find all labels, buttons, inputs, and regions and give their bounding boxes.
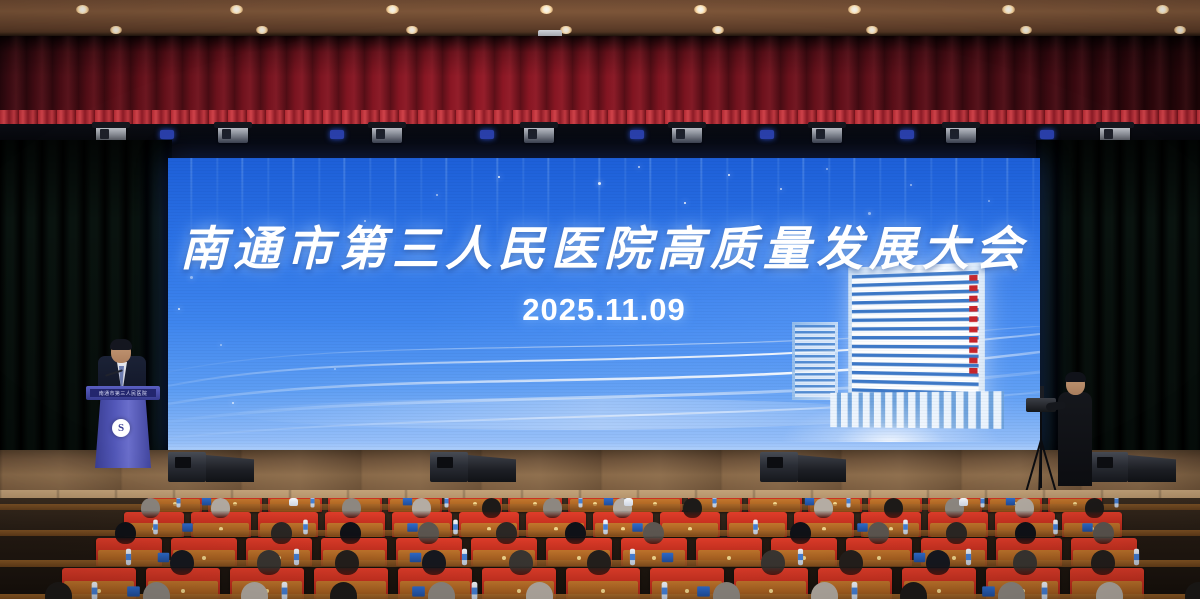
water-bottle xyxy=(966,549,971,565)
led-screen: 南通市第三人民医院高质量发展大会 2025.11.09 xyxy=(168,158,1040,456)
moving-head-light xyxy=(672,126,702,143)
monitor-cabinet xyxy=(1128,455,1176,482)
audience-member-head xyxy=(141,498,160,518)
audience-member-head xyxy=(257,550,281,575)
monitor-cabinet xyxy=(468,455,516,482)
seat-knob xyxy=(517,589,521,593)
conference-booklet xyxy=(410,553,422,562)
ceiling-downlight xyxy=(1174,26,1186,34)
seat-knob xyxy=(181,589,185,593)
audience-member-head xyxy=(482,498,501,518)
water-bottle xyxy=(153,520,158,535)
audience-member-head xyxy=(211,498,230,518)
lighting-truss xyxy=(0,124,1200,144)
water-bottle xyxy=(310,498,314,507)
ceiling xyxy=(0,0,1200,38)
conference-booklet xyxy=(1082,523,1092,532)
water-bottle xyxy=(903,520,908,535)
tea-cup xyxy=(624,498,633,506)
monitor-amp xyxy=(430,452,468,482)
audience-member-head xyxy=(271,522,292,544)
led-screen-date: 2025.11.09 xyxy=(168,292,1040,328)
conference-booklet xyxy=(403,498,412,505)
audience-member-head xyxy=(761,550,785,575)
podium-nameplate: 南通市第三人民医院 xyxy=(90,389,156,397)
water-bottle xyxy=(1042,582,1048,599)
audience-member-head xyxy=(868,522,889,544)
cameraman-hair xyxy=(1065,372,1086,382)
tea-cup xyxy=(289,498,298,506)
water-bottle xyxy=(753,520,758,535)
ceiling-downlight xyxy=(848,5,861,14)
conference-booklet xyxy=(127,586,140,596)
water-bottle xyxy=(444,498,448,507)
water-bottle xyxy=(798,549,803,565)
audience-member-head xyxy=(412,498,431,518)
conference-booklet xyxy=(982,586,995,596)
audience-member-head xyxy=(814,498,833,518)
light-yoke xyxy=(1096,122,1134,128)
audience-member-head xyxy=(1185,582,1200,599)
water-bottle xyxy=(92,582,98,599)
water-bottle xyxy=(852,582,858,599)
audience-seating-area xyxy=(0,498,1200,599)
blue-wash-light xyxy=(160,130,174,139)
light-yoke xyxy=(214,122,252,128)
audience-member-head xyxy=(565,522,586,544)
audience-member-head xyxy=(1013,550,1037,575)
water-bottle xyxy=(1053,520,1058,535)
stage-monitor-speaker xyxy=(430,452,520,482)
conference-booklet xyxy=(697,586,710,596)
audience-member-head xyxy=(683,498,702,518)
water-bottle xyxy=(462,549,467,565)
blue-wash-light xyxy=(900,130,914,139)
blue-wash-light xyxy=(760,130,774,139)
light-yoke xyxy=(808,122,846,128)
ceiling-downlight xyxy=(1020,26,1032,34)
ceiling-downlight xyxy=(76,5,89,14)
conference-booklet xyxy=(158,553,170,562)
conference-booklet xyxy=(914,553,926,562)
water-bottle xyxy=(846,498,850,507)
seat-knob xyxy=(97,589,101,593)
ceiling-downlight xyxy=(386,5,399,14)
stage-monitor-speaker xyxy=(168,452,258,482)
monitor-cabinet xyxy=(798,455,846,482)
seat-knob xyxy=(769,589,773,593)
water-bottle xyxy=(980,498,984,507)
audience-member-head xyxy=(1085,498,1104,518)
light-yoke xyxy=(668,122,706,128)
tea-cup xyxy=(959,498,968,506)
moving-head-light xyxy=(524,126,554,143)
audience-member-head xyxy=(643,522,664,544)
audience-member-head xyxy=(1093,522,1114,544)
water-bottle xyxy=(603,520,608,535)
audience-member-head xyxy=(496,522,517,544)
water-bottle xyxy=(630,549,635,565)
red-curtain-valance xyxy=(0,36,1200,126)
moving-head-light xyxy=(946,126,976,143)
stage-monitor-speaker xyxy=(1090,452,1180,482)
water-bottle xyxy=(712,498,716,507)
conference-booklet xyxy=(407,523,417,532)
ceiling-downlight xyxy=(694,5,707,14)
conference-booklet xyxy=(412,586,425,596)
ceiling-downlight xyxy=(1002,5,1015,14)
water-bottle xyxy=(282,582,288,599)
audience-member-head xyxy=(1091,550,1115,575)
seat-knob xyxy=(937,589,941,593)
moving-head-light xyxy=(372,126,402,143)
water-bottle xyxy=(1114,498,1118,507)
water-bottle xyxy=(472,582,478,599)
conference-booklet xyxy=(202,498,211,505)
moving-head-light xyxy=(218,126,248,143)
audience-member-head xyxy=(342,498,361,518)
audience-member-head xyxy=(884,498,903,518)
conference-booklet xyxy=(604,498,613,505)
podium-emblem-icon: S xyxy=(112,419,130,437)
ceiling-downlight xyxy=(540,5,553,14)
ceiling-downlight xyxy=(256,26,268,34)
audience-member-head xyxy=(340,522,361,544)
light-yoke xyxy=(92,122,130,128)
blue-wash-light xyxy=(630,130,644,139)
light-yoke xyxy=(520,122,558,128)
ceiling-downlight xyxy=(406,26,418,34)
conference-booklet xyxy=(182,523,192,532)
audience-member-head xyxy=(509,550,533,575)
water-bottle xyxy=(453,520,458,535)
seat-knob xyxy=(601,589,605,593)
conference-booklet xyxy=(632,523,642,532)
monitor-amp xyxy=(168,452,206,482)
blue-wash-light xyxy=(480,130,494,139)
seat-knob xyxy=(685,589,689,593)
led-screen-title: 南通市第三人民医院高质量发展大会 xyxy=(168,210,1040,279)
audience-member-head xyxy=(1015,522,1036,544)
audience-member-head xyxy=(587,550,611,575)
conference-hall-photo: 南通市第三人民医院高质量发展大会 2025.11.09 南通市第三人民医院 S xyxy=(0,0,1200,599)
ceiling-downlight xyxy=(110,26,122,34)
monitor-cabinet xyxy=(206,455,254,482)
conference-booklet xyxy=(1006,498,1015,505)
audience-member-head xyxy=(926,550,950,575)
audience-member-head xyxy=(1015,498,1034,518)
light-yoke xyxy=(368,122,406,128)
audience-member-head xyxy=(839,550,863,575)
ceiling-downlight xyxy=(712,26,724,34)
presenter-hair xyxy=(110,339,132,350)
audience-member-head xyxy=(170,550,194,575)
water-bottle xyxy=(126,549,131,565)
ceiling-downlight xyxy=(1156,5,1169,14)
audience-member-head xyxy=(335,550,359,575)
moving-head-light xyxy=(812,126,842,143)
audience-member-head xyxy=(418,522,439,544)
water-bottle xyxy=(176,498,180,507)
conference-booklet xyxy=(662,553,674,562)
water-bottle xyxy=(303,520,308,535)
monitor-amp xyxy=(760,452,798,482)
audience-member-head xyxy=(790,522,811,544)
water-bottle xyxy=(662,582,668,599)
audience-member-head xyxy=(115,522,136,544)
water-bottle xyxy=(1134,549,1139,565)
ceiling-downlight xyxy=(866,26,878,34)
blue-wash-light xyxy=(330,130,344,139)
conference-booklet xyxy=(805,498,814,505)
stage-monitor-speaker xyxy=(760,452,850,482)
conference-booklet xyxy=(857,523,867,532)
audience-member-head xyxy=(422,550,446,575)
ceiling-downlight xyxy=(230,5,243,14)
audience-member-head xyxy=(946,522,967,544)
water-bottle xyxy=(294,549,299,565)
podium-emblem-letter: S xyxy=(118,422,124,434)
podium-nameplate-text: 南通市第三人民医院 xyxy=(99,390,148,397)
audience-member-head xyxy=(543,498,562,518)
monitor-amp xyxy=(1090,452,1128,482)
light-yoke xyxy=(942,122,980,128)
water-bottle xyxy=(578,498,582,507)
blue-wash-light xyxy=(1040,130,1054,139)
